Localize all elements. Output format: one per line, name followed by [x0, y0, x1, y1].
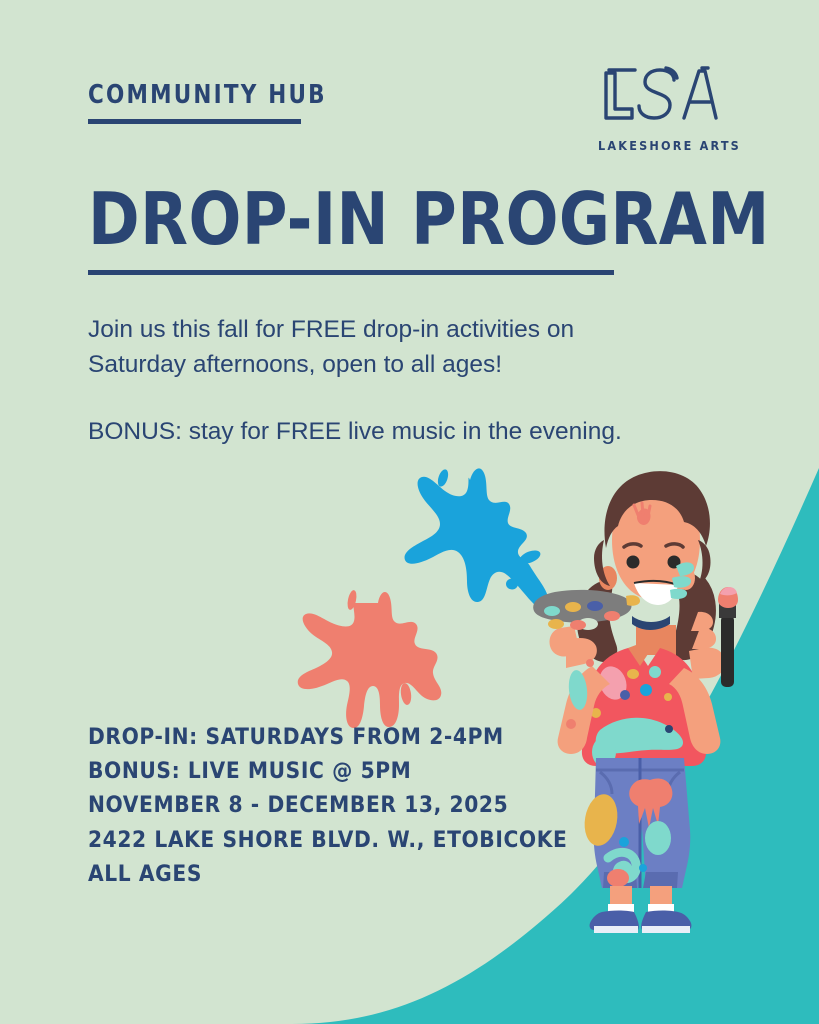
poster-canvas: COMMUNITY HUB LAKESHORE ARTS DROP-IN PRO… [0, 0, 819, 1024]
paintbrush-icon [718, 587, 738, 687]
lsa-logo-mark [598, 66, 720, 132]
kicker-underline [88, 119, 301, 124]
headline-underline [88, 270, 614, 275]
body-copy: Join us this fall for FREE drop-in activ… [88, 313, 678, 449]
detail-item-bonus: BONUS: LIVE MUSIC @ 5PM [88, 754, 567, 788]
detail-item-audience: ALL AGES [88, 857, 567, 891]
kicker-text: COMMUNITY HUB [88, 82, 327, 108]
lsa-logo: LAKESHORE ARTS [598, 66, 741, 153]
body-paragraph-2: BONUS: stay for FREE live music in the e… [88, 415, 678, 450]
detail-item-dates: NOVEMBER 8 - DECEMBER 13, 2025 [88, 788, 567, 822]
event-details-list: DROP-IN: SATURDAYS FROM 2-4PM BONUS: LIV… [88, 720, 567, 891]
detail-item-address: 2422 LAKE SHORE BLVD. W., ETOBICOKE [88, 823, 567, 857]
page-title: DROP-IN PROGRAM [88, 186, 770, 252]
body-paragraph-1: Join us this fall for FREE drop-in activ… [88, 313, 678, 383]
paint-palette-icon [533, 590, 631, 630]
kicker-block: COMMUNITY HUB [88, 82, 348, 124]
headline-block: DROP-IN PROGRAM [88, 186, 798, 275]
lsa-logo-subtitle: LAKESHORE ARTS [598, 138, 741, 153]
detail-item-schedule: DROP-IN: SATURDAYS FROM 2-4PM [88, 720, 567, 754]
